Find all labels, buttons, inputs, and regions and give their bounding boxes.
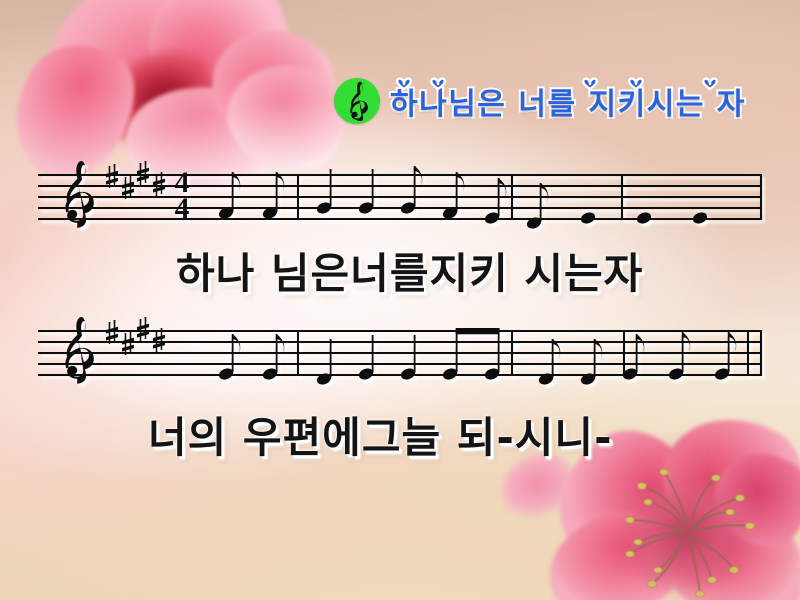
treble-clef-badge-icon bbox=[334, 78, 380, 124]
lyrics-line-2: 너의 우편에그늘 되-시니- bbox=[148, 404, 613, 465]
key-signature-four-sharps-icon bbox=[106, 161, 165, 199]
note bbox=[357, 169, 375, 216]
music-system-1: 4 4 bbox=[36, 152, 766, 252]
time-signature: 4 4 bbox=[175, 166, 190, 225]
lyrics-line-1: 하나 님은너를지키 시는자 bbox=[176, 240, 643, 301]
note bbox=[579, 339, 602, 387]
note bbox=[537, 339, 560, 387]
note bbox=[525, 183, 548, 231]
staff-lines bbox=[38, 175, 762, 219]
note bbox=[579, 210, 597, 225]
note bbox=[315, 339, 333, 387]
title-text: 하나님은 너를 지키시는 자 bbox=[390, 79, 746, 123]
svg-text:4: 4 bbox=[175, 192, 190, 225]
key-signature-four-sharps-icon bbox=[106, 317, 165, 355]
note bbox=[635, 210, 653, 225]
treble-clef-icon bbox=[65, 317, 94, 384]
staff-lines bbox=[38, 331, 762, 375]
notes bbox=[217, 328, 736, 387]
title-row: 하나님은 너를 지키시는 자 bbox=[334, 74, 746, 128]
hymn-slide: 하나님은 너를 지키시는 자 bbox=[0, 0, 800, 600]
note bbox=[691, 210, 709, 225]
treble-clef-icon bbox=[65, 161, 94, 228]
beamed-note-pair bbox=[441, 328, 501, 382]
music-system-2 bbox=[36, 308, 766, 408]
note bbox=[315, 169, 333, 216]
